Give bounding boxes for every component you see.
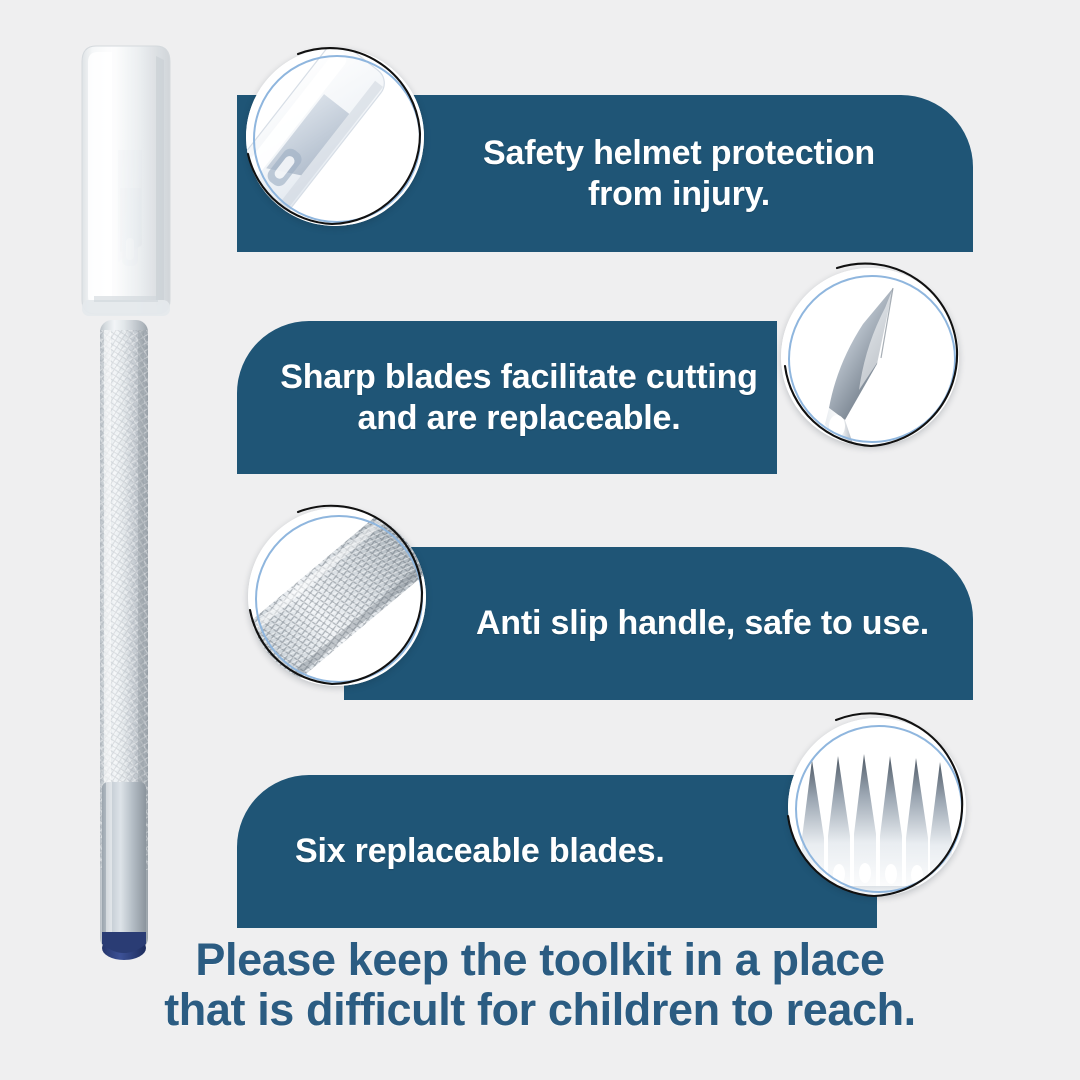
product-knife-image [0,0,230,1000]
knurled-handle-photo-icon [242,502,432,692]
feature-banner-sharp-blades: Sharp blades facilitate cutting and are … [237,321,777,474]
blade-cap-photo-icon [240,42,430,232]
magnifier-disc [788,718,966,896]
feature-text-six-blades: Six replaceable blades. [237,831,877,871]
infographic-canvas: Safety helmet protection from injury. [0,0,1080,1080]
magnifier-disc [246,48,424,226]
feature-text-anti-slip-handle: Anti slip handle, safe to use. [344,603,973,643]
six-blades-photo-icon [782,712,972,902]
footnote-line-2: that is difficult for children to reach. [0,985,1080,1035]
magnifier-disc [781,268,959,446]
magnifier-photo [788,718,966,896]
footnote-line-1: Please keep the toolkit in a place [0,935,1080,985]
feature-banner-anti-slip-handle: Anti slip handle, safe to use. [344,547,973,700]
magnifier-photo [248,508,426,686]
feature-line-2: and are replaceable. [358,399,681,437]
feature-line-1: Safety helmet protection [483,134,875,172]
knife-illustration [0,0,230,1000]
feature-text-sharp-blades: Sharp blades facilitate cutting and are … [237,357,777,437]
safety-footnote: Please keep the toolkit in a place that … [0,935,1080,1036]
magnifier-photo [781,268,959,446]
feature-line-1: Sharp blades facilitate cutting [280,358,757,396]
feature-line-2: from injury. [588,175,770,213]
single-blade-photo-icon [775,262,965,452]
feature-line-1: Anti slip handle, safe to use. [476,604,929,642]
feature-line-1: Six replaceable blades. [295,832,665,870]
magnifier-photo [246,48,424,226]
magnifier-disc [248,508,426,686]
feature-banner-six-blades: Six replaceable blades. [237,775,877,928]
